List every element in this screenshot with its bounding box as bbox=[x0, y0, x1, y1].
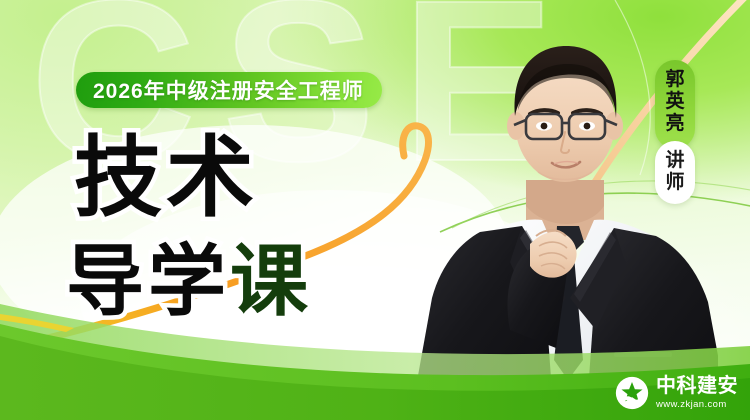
instructor-role-char-1: 讲 bbox=[665, 150, 684, 172]
instructor-name-char-1: 郭 bbox=[665, 69, 684, 91]
instructor-name-char-3: 亮 bbox=[665, 113, 684, 135]
instructor-name-badge: 郭 英 亮 bbox=[655, 60, 695, 149]
star-mountain-circle-icon bbox=[615, 376, 649, 410]
course-title-badge-label: 2026年中级注册安全工程师 bbox=[93, 75, 364, 105]
brand-name: 中科建安 bbox=[656, 376, 738, 396]
brand-url: www.zkjan.com bbox=[656, 400, 738, 410]
brand-logo-text: 中科建安 www.zkjan.com bbox=[656, 376, 738, 410]
instructor-name-char-2: 英 bbox=[665, 91, 684, 113]
headline-line-1: 技术 bbox=[74, 134, 258, 222]
course-title-badge: 2026年中级注册安全工程师 bbox=[76, 72, 382, 108]
instructor-role-char-2: 师 bbox=[665, 172, 684, 194]
course-banner: CSE CSE bbox=[0, 0, 750, 420]
brand-logo: 中科建安 www.zkjan.com bbox=[615, 376, 738, 410]
instructor-role-badge: 讲 师 bbox=[655, 141, 695, 204]
